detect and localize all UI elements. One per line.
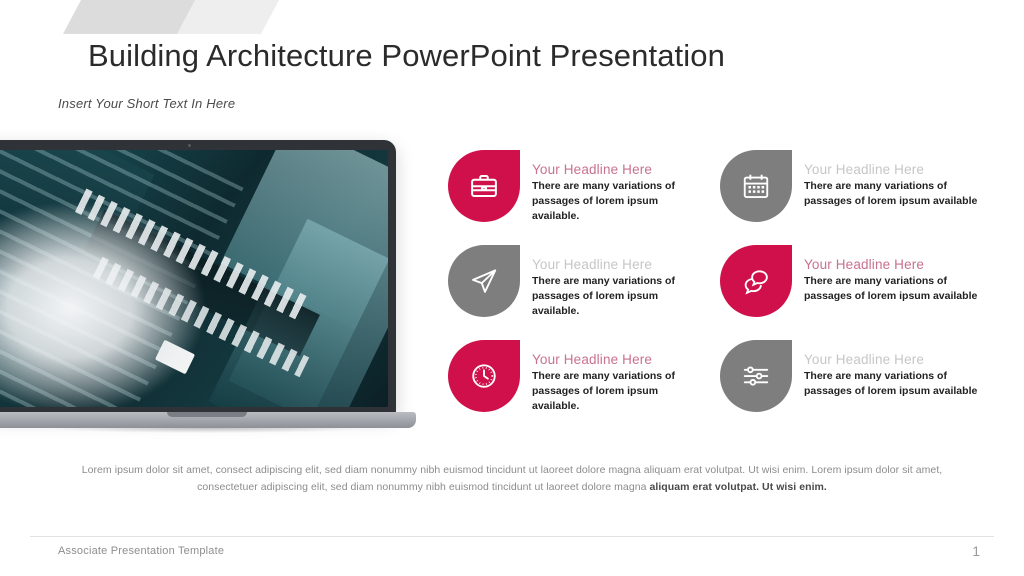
clock-icon: [469, 361, 499, 391]
briefcase-icon: [469, 171, 499, 201]
feature-text: Your Headline Here There are many variat…: [520, 245, 706, 319]
feature-item-5[interactable]: Your Headline Here There are many variat…: [448, 340, 706, 435]
feature-headline: Your Headline Here: [804, 257, 978, 272]
body-paragraph: Lorem ipsum dolor sit amet, consect adip…: [62, 462, 962, 496]
feature-icon-badge: [448, 150, 520, 222]
page-subtitle: Insert Your Short Text In Here: [58, 96, 235, 111]
feature-item-3[interactable]: Your Headline Here There are many variat…: [448, 245, 706, 340]
feature-text: Your Headline Here There are many variat…: [792, 340, 978, 399]
paragraph-bold-text: aliquam erat volutpat. Ut wisi enim.: [649, 481, 826, 493]
feature-text: Your Headline Here There are many variat…: [520, 150, 706, 224]
laptop-shadow: [0, 428, 432, 442]
feature-item-4[interactable]: Your Headline Here There are many variat…: [720, 245, 978, 340]
feature-item-1[interactable]: Your Headline Here There are many variat…: [448, 150, 706, 245]
feature-icon-badge: [720, 150, 792, 222]
feature-body: There are many variations of passages of…: [804, 179, 978, 209]
laptop-notch: [167, 412, 247, 417]
footer-divider: [30, 536, 994, 537]
laptop-screen-image: [0, 150, 388, 407]
feature-body: There are many variations of passages of…: [804, 274, 978, 304]
chat-bubbles-icon: [741, 266, 771, 296]
feature-grid: Your Headline Here There are many variat…: [448, 150, 988, 440]
feature-icon-badge: [720, 245, 792, 317]
feature-body: There are many variations of passages of…: [532, 369, 706, 414]
feature-icon-badge: [448, 340, 520, 412]
feature-item-6[interactable]: Your Headline Here There are many variat…: [720, 340, 978, 435]
feature-item-2[interactable]: Your Headline Here There are many variat…: [720, 150, 978, 245]
feature-body: There are many variations of passages of…: [532, 274, 706, 319]
calendar-icon: [741, 171, 771, 201]
paper-plane-icon: [469, 266, 499, 296]
feature-text: Your Headline Here There are many variat…: [520, 340, 706, 414]
parallelogram-light: [177, 0, 279, 34]
laptop-mockup: [0, 140, 432, 450]
feature-icon-badge: [448, 245, 520, 317]
decorative-parallelograms: [0, 0, 320, 34]
feature-text: Your Headline Here There are many variat…: [792, 150, 978, 209]
page-number: 1: [972, 543, 980, 559]
page-title: Building Architecture PowerPoint Present…: [88, 38, 725, 74]
feature-headline: Your Headline Here: [532, 352, 706, 367]
feature-headline: Your Headline Here: [532, 257, 706, 272]
feature-icon-badge: [720, 340, 792, 412]
webcam-icon: [188, 144, 191, 147]
feature-headline: Your Headline Here: [804, 162, 978, 177]
feature-body: There are many variations of passages of…: [532, 179, 706, 224]
feature-body: There are many variations of passages of…: [804, 369, 978, 399]
feature-headline: Your Headline Here: [532, 162, 706, 177]
feature-text: Your Headline Here There are many variat…: [792, 245, 978, 304]
feature-headline: Your Headline Here: [804, 352, 978, 367]
sliders-icon: [741, 361, 771, 391]
footer-label: Associate Presentation Template: [58, 545, 224, 557]
laptop-lid: [0, 140, 396, 415]
